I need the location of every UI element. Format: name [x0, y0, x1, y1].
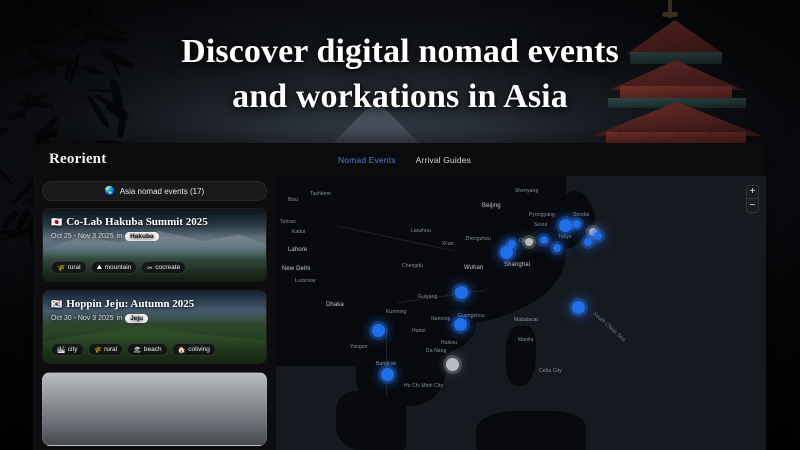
- headline-line-2: and workations in Asia: [0, 75, 800, 120]
- tag-icon: 🏠: [178, 346, 186, 354]
- map-city-label: Nanning: [431, 316, 450, 322]
- event-tag-rural[interactable]: 🌾rural: [51, 261, 87, 274]
- main-nav: Nomad EventsArrival Guides: [338, 143, 471, 176]
- map-city-label: Bisu: [288, 197, 298, 203]
- map-city-label: Manila: [518, 337, 533, 343]
- tag-label: mountain: [105, 264, 132, 271]
- marker-dot-icon: [573, 220, 581, 228]
- map-city-label: Tokyo: [558, 234, 572, 240]
- map-land-malay: [336, 391, 406, 450]
- map-city-label: Bangkok: [376, 361, 396, 367]
- map-city-label: Pyongyang: [529, 212, 555, 218]
- app-window: Reorient Nomad EventsArrival Guides 🌏 As…: [33, 143, 766, 450]
- map-city-label: Beijing: [482, 203, 501, 209]
- map-event-marker[interactable]: [454, 318, 467, 331]
- map-city-label: Hanoi: [412, 328, 426, 334]
- nav-item-arrival-guides[interactable]: Arrival Guides: [416, 155, 471, 165]
- map-city-label: Chengdu: [402, 263, 423, 269]
- country-flag-icon: 🇯🇵: [51, 217, 62, 228]
- map-event-marker[interactable]: [381, 368, 394, 381]
- map-event-marker[interactable]: [525, 238, 533, 246]
- event-card[interactable]: 🇰🇷Hoppin Jeju: Autumn 2025Oct 30 - Nov 3…: [42, 290, 267, 364]
- event-tag-beach[interactable]: 🏖beach: [127, 343, 167, 356]
- map-city-label: Shanghai: [504, 262, 530, 268]
- event-card-title: 🇯🇵Co-Lab Hakuba Summit 2025: [51, 216, 258, 228]
- event-card-title: 🇰🇷Hoppin Jeju: Autumn 2025: [51, 298, 258, 310]
- map-city-label: Shenyang: [515, 188, 538, 194]
- map-city-label: Yangon: [350, 344, 367, 350]
- marker-dot-icon: [372, 324, 385, 337]
- marker-dot-icon: [572, 301, 585, 314]
- map-city-label: New Delhi: [282, 266, 310, 272]
- map-city-label: Wuhan: [464, 265, 483, 271]
- page-title: Discover digital nomad events and workat…: [0, 30, 800, 120]
- country-flag-icon: 🇰🇷: [51, 299, 62, 310]
- app-body: 🌏 Asia nomad events (17) 🇯🇵Co-Lab Hakuba…: [33, 176, 766, 450]
- tag-label: cocreate: [155, 264, 180, 271]
- map-city-label: Da Nang: [426, 348, 446, 354]
- event-card-content: 🇯🇵Co-Lab Hakuba Summit 2025Oct 25 - Nov …: [43, 209, 266, 281]
- tag-label: rural: [68, 264, 81, 271]
- tag-icon: 🌾: [57, 264, 65, 272]
- events-sidebar[interactable]: 🌏 Asia nomad events (17) 🇯🇵Co-Lab Hakuba…: [33, 176, 276, 450]
- event-place-badge[interactable]: Jeju: [125, 314, 148, 323]
- tag-label: rural: [104, 346, 117, 353]
- event-tag-mountain[interactable]: ⛰mountain: [91, 261, 138, 274]
- marker-dot-icon: [540, 236, 548, 244]
- marker-dot-icon: [559, 219, 572, 232]
- event-title-text: Hoppin Jeju: Autumn 2025: [66, 298, 194, 310]
- events-map[interactable]: TashkentBisuTehranKabulLahoreNew DelhiLu…: [276, 176, 766, 450]
- event-date-preposition: in: [117, 233, 122, 240]
- map-city-label: Kabul: [292, 229, 305, 235]
- map-city-label: Mabalacat: [514, 317, 538, 323]
- tag-icon: 🌾: [94, 346, 102, 354]
- map-city-label: Guiyang: [418, 294, 437, 300]
- map-city-label: Ho Chi Minh City: [404, 383, 443, 389]
- map-land-philippines: [506, 326, 536, 386]
- marker-dot-icon: [454, 318, 467, 331]
- map-city-label: Xi'an: [442, 241, 453, 247]
- globe-icon: 🌏: [105, 187, 115, 195]
- map-event-marker[interactable]: [559, 219, 572, 232]
- map-city-label: Cebu City: [539, 368, 562, 374]
- map-city-label: Seoul: [534, 222, 547, 228]
- marker-dot-icon: [500, 246, 513, 259]
- event-tag-coliving[interactable]: 🏠coliving: [172, 343, 216, 356]
- map-event-marker[interactable]: [372, 324, 385, 337]
- map-land-borneo: [476, 411, 586, 450]
- event-card-tags: 🌾rural⛰mountain✂cocreate: [51, 261, 258, 274]
- filter-label: Asia nomad events (17): [120, 187, 205, 196]
- app-header: Reorient Nomad EventsArrival Guides: [33, 143, 766, 176]
- map-city-label: Zhengzhou: [465, 236, 491, 242]
- map-zoom-controls[interactable]: + −: [746, 185, 759, 213]
- tag-icon: ⛰: [97, 264, 102, 272]
- event-date-range: Oct 30 - Nov 3 2025: [51, 315, 114, 322]
- zoom-out-button[interactable]: −: [747, 199, 758, 212]
- event-date-range: Oct 25 - Nov 3 2025: [51, 233, 114, 240]
- brand-logo[interactable]: Reorient: [49, 151, 106, 168]
- map-event-marker[interactable]: [553, 244, 561, 252]
- headline-line-1: Discover digital nomad events: [0, 30, 800, 75]
- event-card-content: 🇰🇷Hoppin Jeju: Autumn 2025Oct 30 - Nov 3…: [43, 291, 266, 363]
- map-event-marker[interactable]: [500, 246, 513, 259]
- map-city-label: Kunming: [386, 309, 406, 315]
- map-event-marker[interactable]: [594, 232, 602, 240]
- map-city-label: Lucknow: [295, 278, 315, 284]
- zoom-in-button[interactable]: +: [747, 186, 758, 199]
- map-event-marker[interactable]: [540, 236, 548, 244]
- tag-label: coliving: [188, 346, 210, 353]
- event-tag-cocreate[interactable]: ✂cocreate: [141, 261, 186, 274]
- map-event-marker[interactable]: [573, 220, 581, 228]
- marker-dot-icon: [525, 238, 533, 246]
- map-city-label: Sendai: [573, 212, 589, 218]
- event-card-tags: 🏙city🌾rural🏖beach🏠coliving: [51, 343, 258, 356]
- event-card[interactable]: 🇯🇵Co-Lab Hakuba Summit 2025Oct 25 - Nov …: [42, 208, 267, 282]
- marker-dot-icon: [446, 358, 459, 371]
- marker-dot-icon: [455, 286, 468, 299]
- event-card[interactable]: [42, 372, 267, 446]
- map-city-label: Lahore: [288, 247, 307, 253]
- map-event-marker[interactable]: [584, 238, 592, 246]
- tag-label: city: [68, 346, 78, 353]
- marker-dot-icon: [594, 232, 602, 240]
- tag-icon: 🏙: [57, 346, 65, 354]
- tag-label: beach: [144, 346, 162, 353]
- tag-icon: ✂: [147, 264, 152, 272]
- event-title-text: Co-Lab Hakuba Summit 2025: [66, 216, 208, 228]
- marker-dot-icon: [381, 368, 394, 381]
- map-city-label: Lanzhou: [411, 228, 431, 234]
- event-date-preposition: in: [117, 315, 122, 322]
- map-city-label: Tehran: [280, 219, 296, 225]
- event-tag-city[interactable]: 🏙city: [51, 343, 84, 356]
- marker-dot-icon: [553, 244, 561, 252]
- map-event-marker[interactable]: [455, 286, 468, 299]
- marker-dot-icon: [584, 238, 592, 246]
- nav-item-nomad-events[interactable]: Nomad Events: [338, 155, 396, 165]
- map-city-label: Dhaka: [326, 302, 344, 308]
- tag-icon: 🏖: [133, 346, 141, 354]
- event-place-badge[interactable]: Hakuba: [125, 232, 158, 241]
- map-event-marker[interactable]: [572, 301, 585, 314]
- events-list[interactable]: 🇯🇵Co-Lab Hakuba Summit 2025Oct 25 - Nov …: [42, 208, 267, 446]
- map-event-marker[interactable]: [446, 358, 459, 371]
- event-card-dates: Oct 30 - Nov 3 2025inJeju: [51, 314, 258, 323]
- map-city-label: Tashkent: [310, 191, 331, 197]
- event-card-dates: Oct 25 - Nov 3 2025inHakuba: [51, 232, 258, 241]
- asia-events-filter-pill[interactable]: 🌏 Asia nomad events (17): [42, 181, 267, 201]
- map-city-label: Haikou: [441, 340, 457, 346]
- event-tag-rural[interactable]: 🌾rural: [88, 343, 124, 356]
